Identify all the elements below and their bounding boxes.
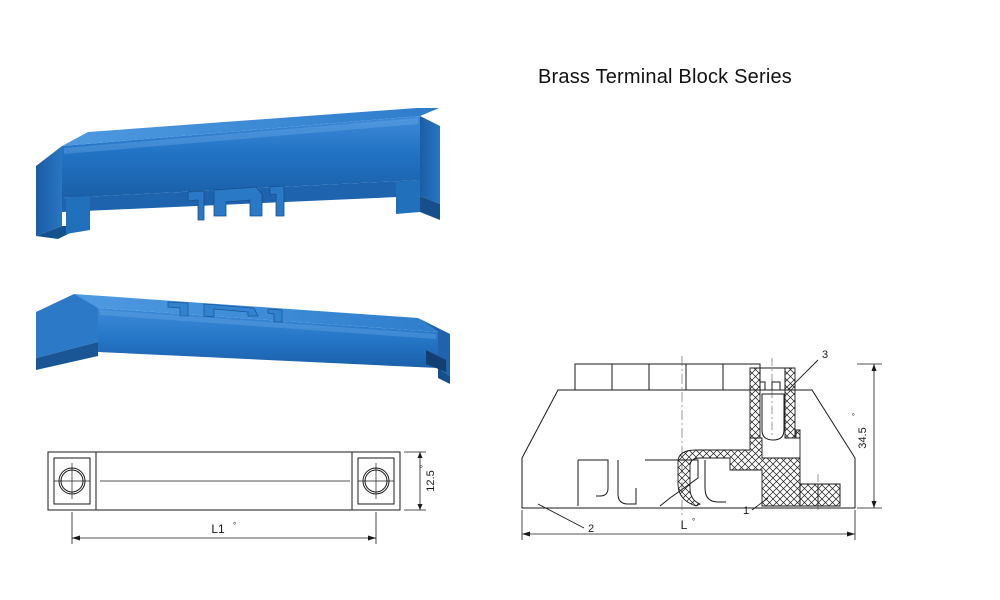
product-spec-page: Brass Terminal Block Series [0,0,1000,600]
top-view-length-dimension: L1 [211,522,225,536]
section-length-dimension-mark: ° [692,517,695,526]
top-view-length-dimension-mark: ° [233,521,236,530]
callout-3: 3 [822,349,828,361]
section-length-dimension: L [681,518,688,532]
top-view-height-dimension: 12.5 [425,470,437,491]
callout-2: 2 [588,523,594,535]
page-title: Brass Terminal Block Series [460,66,870,89]
terminal-block-photo-front-angle [18,272,458,397]
section-height-dimension-mark: ° [851,413,860,416]
terminal-block-photo-top-angle [28,108,448,243]
callout-1: 1 [743,505,749,517]
top-view-drawing: 12.5 ° L1 ° [30,440,450,555]
section-height-dimension: 34.5 [857,427,869,448]
top-view-height-dimension-mark: ° [419,465,428,468]
cross-section-drawing: 3 1 2 34.5 ° L ° [500,338,900,553]
